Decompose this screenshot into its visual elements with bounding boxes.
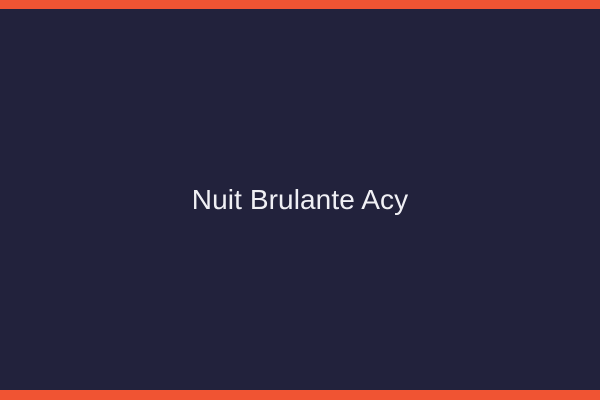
- top-accent-bar: [0, 0, 600, 9]
- bottom-accent-bar: [0, 390, 600, 400]
- page-title: Nuit Brulante Acy: [24, 183, 576, 217]
- title-block: Nuit Brulante Acy: [0, 183, 600, 217]
- title-card: Nuit Brulante Acy: [0, 0, 600, 400]
